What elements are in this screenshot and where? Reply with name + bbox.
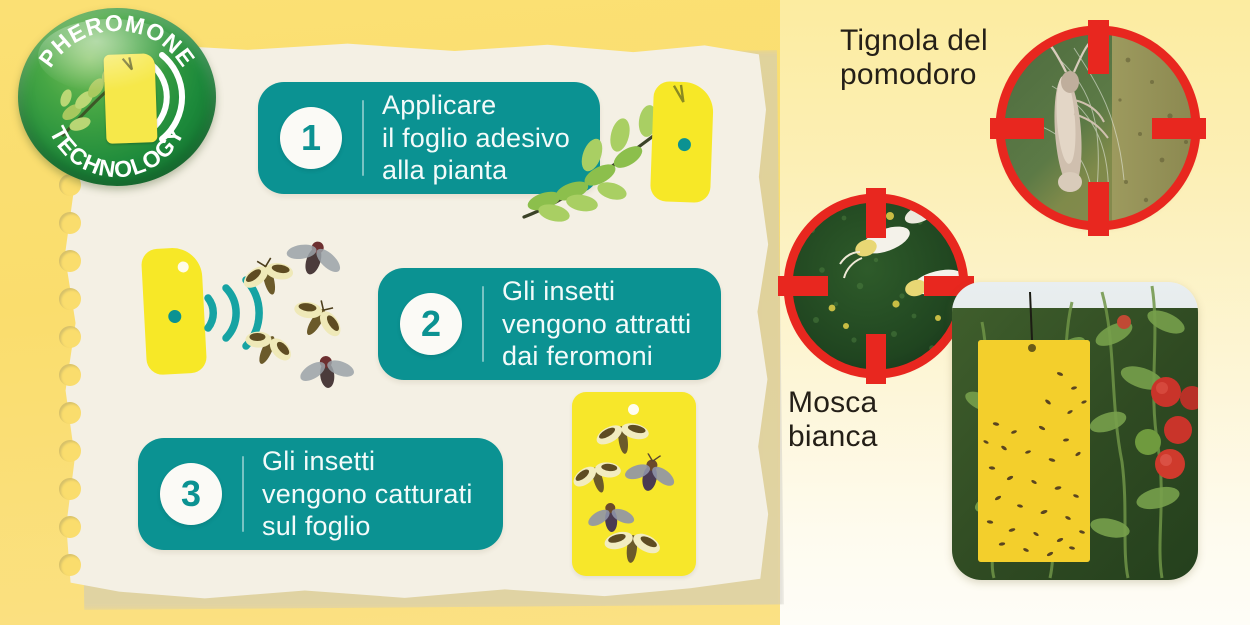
badge-gloss [38, 19, 185, 94]
pheromone-technology-badge: PHEROMONE TECHNOLOGY [18, 8, 216, 186]
caption-whitefly: Mosca bianca [788, 386, 878, 454]
card-dot-icon [168, 310, 182, 324]
step-3-divider [242, 456, 244, 532]
caption-tomato-leafminer: Tignola del pomodoro [840, 24, 988, 92]
captured-moth [600, 523, 664, 573]
step-3-number: 3 [160, 463, 222, 525]
step-3-number-wrap: 3 [138, 463, 222, 525]
field-trap-photo [952, 282, 1198, 580]
fly-illustration [298, 349, 356, 396]
step-3-text: Gli insetti vengono catturati sul foglio [262, 445, 503, 542]
step-2-number: 2 [400, 293, 462, 355]
whitefly-photo [790, 200, 962, 372]
step-2-text: Gli insetti vengono attratti dai feromon… [502, 275, 721, 372]
sticky-card-on-branch-illustration [650, 81, 714, 203]
step-1-number: 1 [280, 107, 342, 169]
captured-insects-card [572, 392, 696, 576]
card-hole-icon [177, 261, 189, 273]
step-1-divider [362, 100, 364, 176]
captured-fly [621, 450, 680, 502]
step-2-card[interactable]: 2 Gli insetti vengono attratti dai ferom… [378, 268, 721, 380]
sticky-card-emitting-waves-illustration [141, 247, 208, 376]
infographic-canvas: PHEROMONE TECHNOLOGY 1 Applicare il fogl… [0, 0, 1250, 625]
step-2-divider [482, 286, 484, 362]
card-hole-icon [628, 404, 639, 415]
step-2-number-wrap: 2 [378, 293, 462, 355]
step-3-card[interactable]: 3 Gli insetti vengono catturati sul fogl… [138, 438, 503, 550]
step-1-number-wrap: 1 [258, 107, 342, 169]
tomato-leafminer-photo [1000, 30, 1196, 226]
